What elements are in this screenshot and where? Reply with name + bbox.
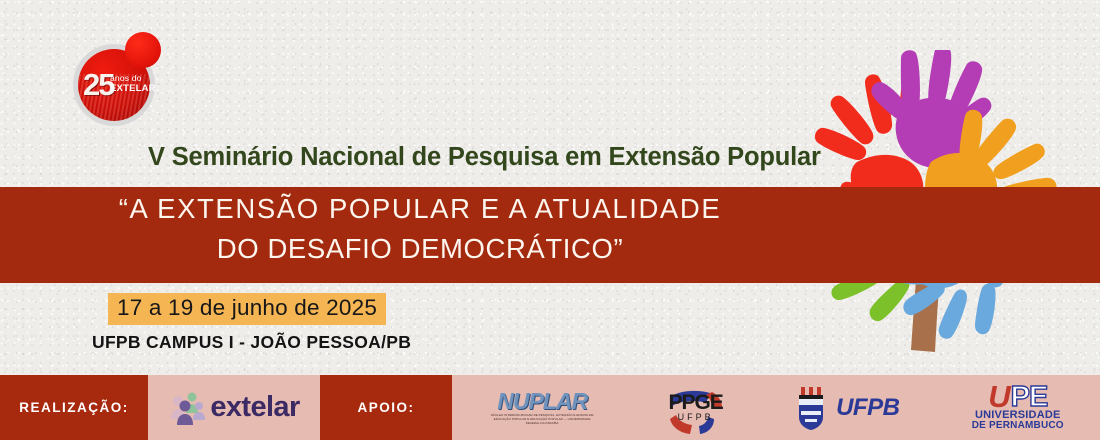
event-banner: 25 anos do EXTELAR (0, 0, 1100, 440)
apoio-section: APOIO: (320, 375, 452, 440)
anniversary-dot-icon (125, 32, 161, 68)
anniversary-line1: anos do (110, 74, 142, 83)
extelar-logo: extelar (148, 375, 320, 440)
anniversary-logo: 25 anos do EXTELAR (63, 24, 173, 134)
ppge-subtitle: UFPB (678, 413, 714, 423)
upe-initial: U (988, 384, 1010, 409)
nuplar-wordmark: NUPLAR (497, 390, 587, 413)
realizacao-section: REALIZAÇÃO: (0, 375, 148, 440)
upe-rest: PE (1011, 386, 1048, 410)
ufpb-crest-icon (795, 385, 829, 431)
sponsor-logos: NUPLAR NÚCLEO INTERDISCIPLINAR DE PESQUI… (452, 375, 1100, 440)
ppge-wordmark: PPGE (668, 393, 722, 413)
nuplar-logo: NUPLAR NÚCLEO INTERDISCIPLINAR DE PESQUI… (488, 390, 596, 426)
footer-bar: REALIZAÇÃO: extelar APOIO: (0, 375, 1100, 440)
event-location: UFPB CAMPUS I - JOÃO PESSOA/PB (92, 332, 411, 353)
extelar-people-icon (168, 389, 208, 427)
event-title: V Seminário Nacional de Pesquisa em Exte… (148, 143, 821, 172)
theme-line-2: DO DESAFIO DEMOCRÁTICO” (0, 232, 840, 266)
anniversary-line2: EXTELAR (110, 84, 156, 94)
apoio-label: APOIO: (357, 400, 414, 415)
event-dates: 17 a 19 de junho de 2025 (108, 293, 386, 325)
ppge-ufpb-logo: PPGE UFPB (668, 393, 722, 423)
ufpb-wordmark: UFPB (836, 394, 899, 422)
ufpb-logo: UFPB (795, 385, 899, 431)
nuplar-subtitle: NÚCLEO INTERDISCIPLINAR DE PESQUISA, EXT… (488, 413, 596, 426)
realizacao-label: REALIZAÇÃO: (19, 400, 129, 415)
anniversary-number: 25 (83, 69, 113, 100)
upe-line2: DE PERNAMBUCO (972, 421, 1064, 431)
extelar-wordmark: extelar (210, 393, 299, 422)
upe-logo: U PE UNIVERSIDADE DE PERNAMBUCO (972, 384, 1064, 430)
event-theme: “A EXTENSÃO POPULAR E A ATUALIDADE DO DE… (0, 192, 840, 266)
theme-line-1: “A EXTENSÃO POPULAR E A ATUALIDADE (0, 192, 840, 226)
